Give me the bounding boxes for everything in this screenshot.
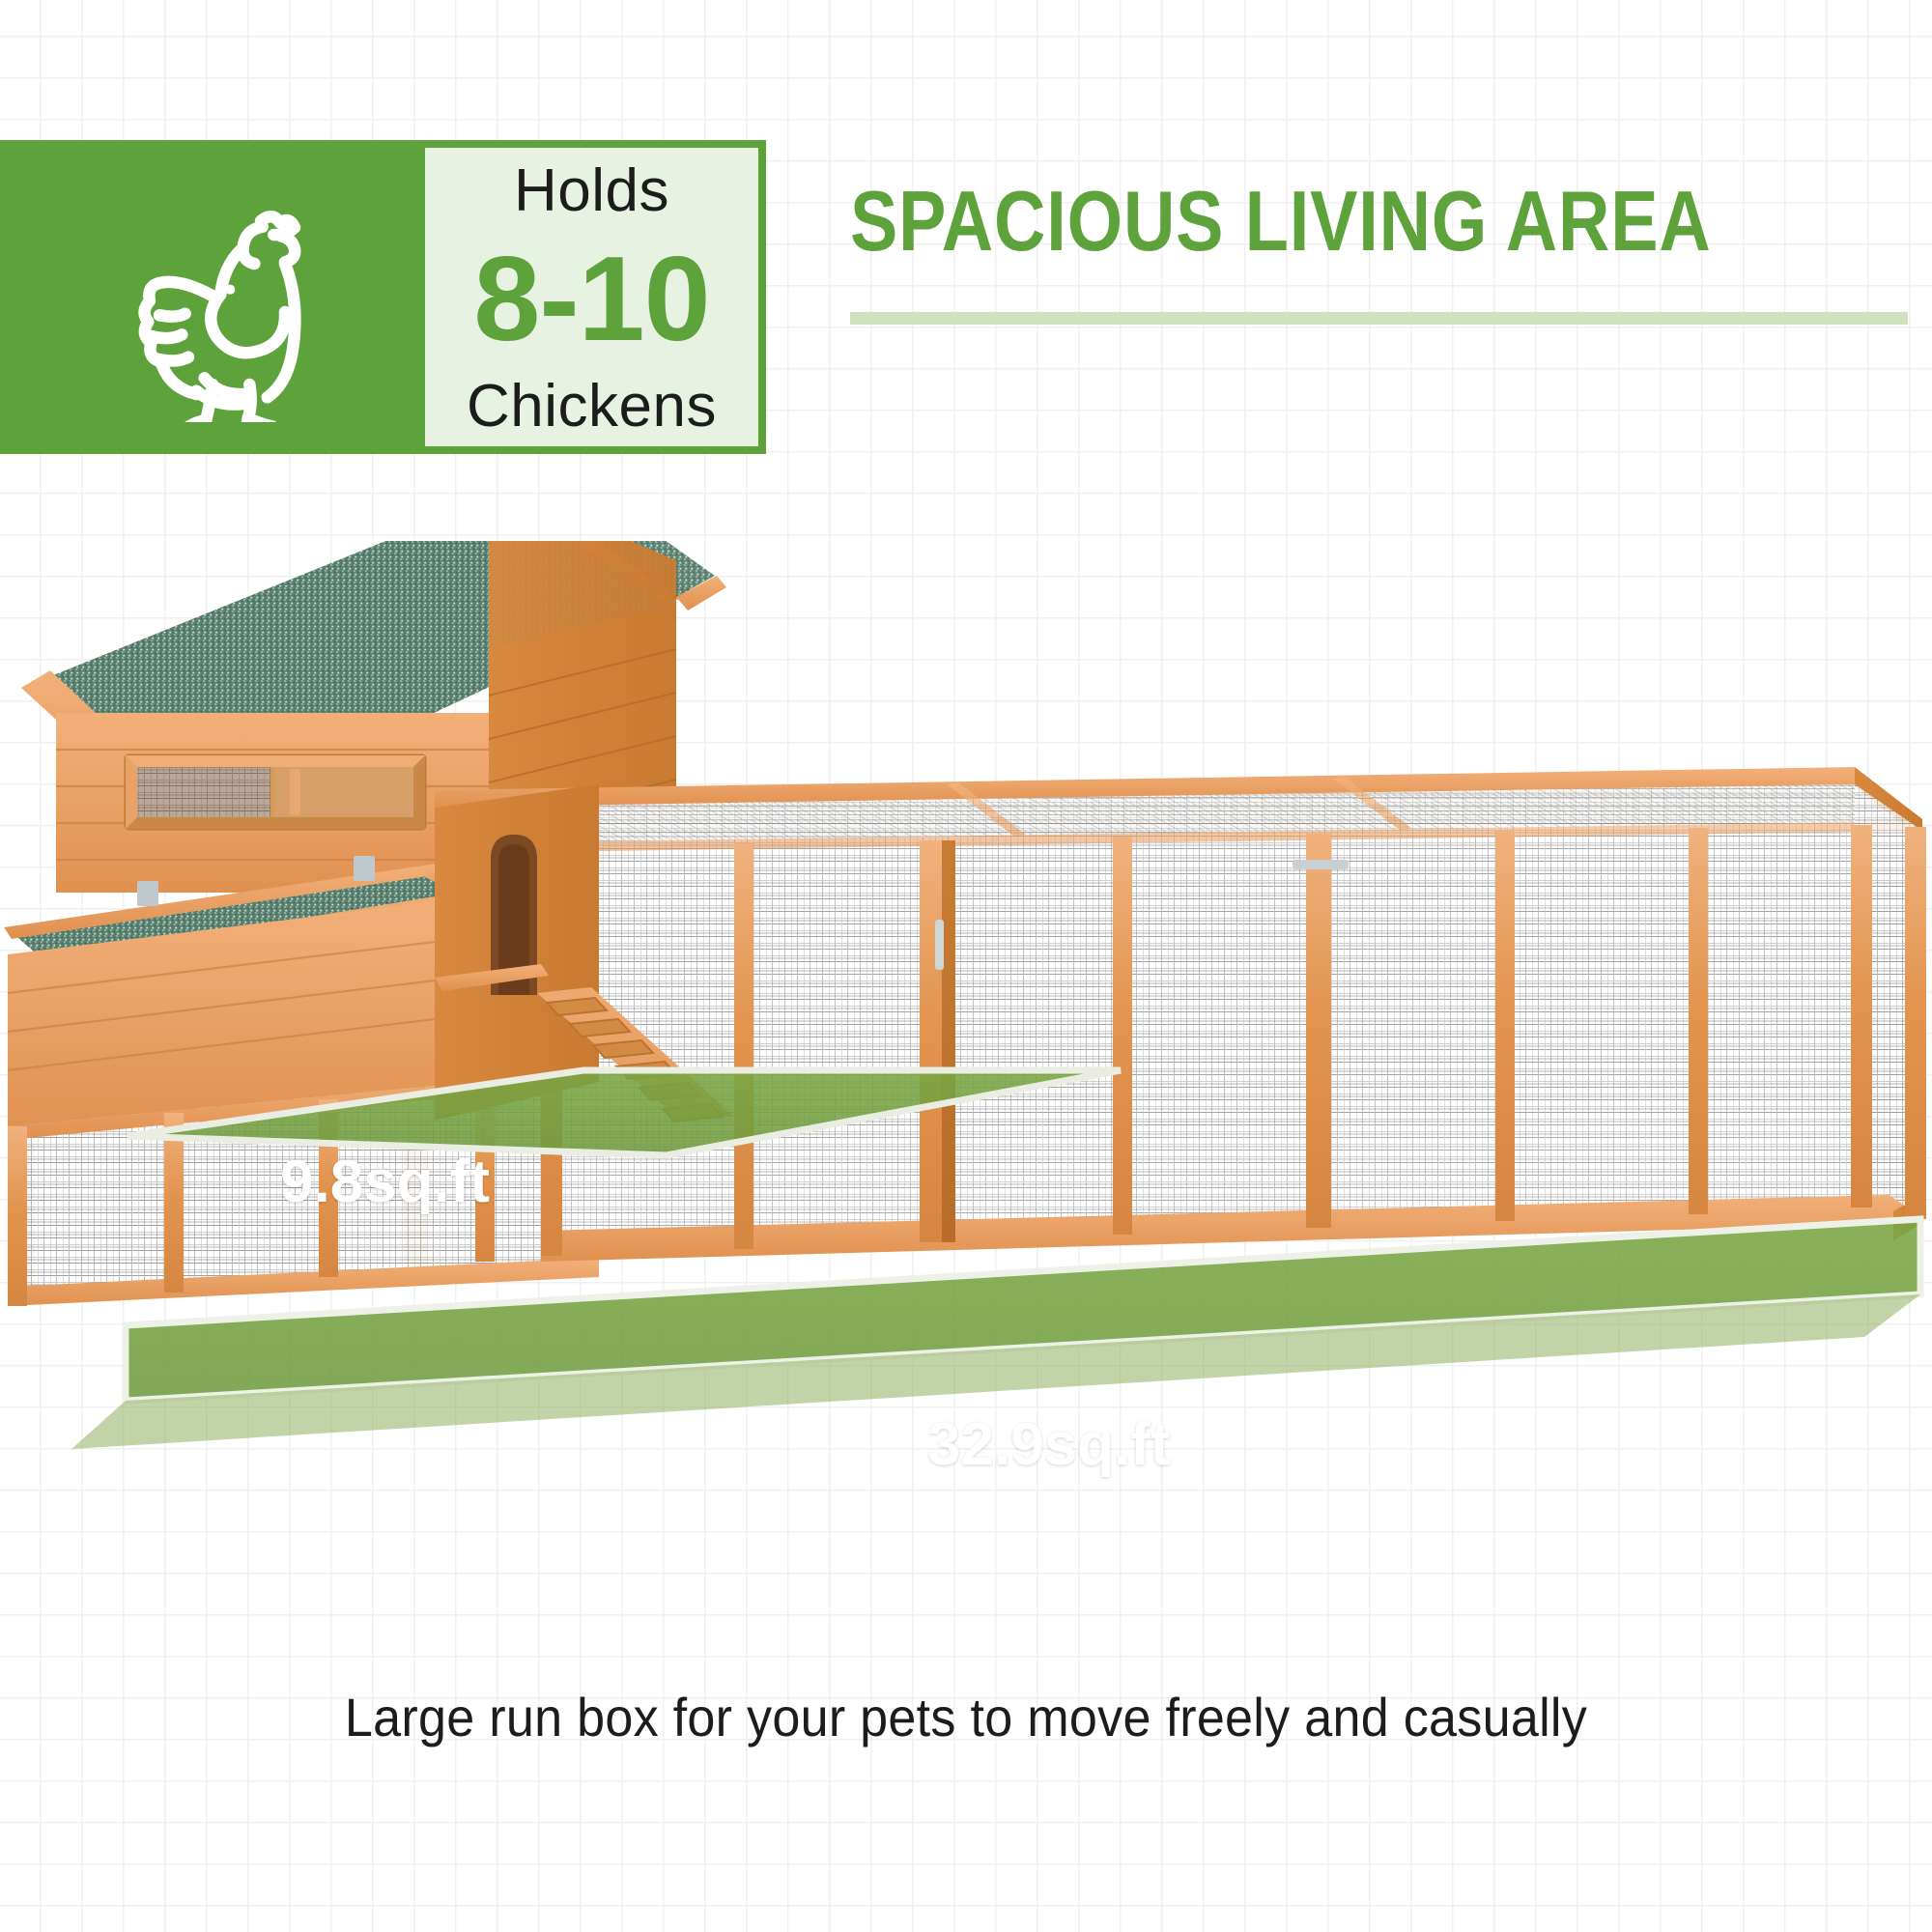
product-image xyxy=(0,541,1932,1623)
capacity-count: 8-10 xyxy=(473,240,709,359)
headline-block: SPACIOUS LIVING AREA xyxy=(850,179,1922,325)
page-title: SPACIOUS LIVING AREA xyxy=(850,179,1750,264)
badge-text-cell: Holds 8-10 Chickens xyxy=(425,148,758,446)
hen-icon xyxy=(92,173,333,422)
badge-icon-cell xyxy=(0,140,425,454)
holds-label: Holds xyxy=(514,161,669,221)
capacity-badge: Holds 8-10 Chickens xyxy=(0,140,766,454)
chickens-label: Chickens xyxy=(467,377,717,437)
caption-text: Large run box for your pets to move free… xyxy=(68,1686,1864,1748)
headline-underline xyxy=(850,312,1908,325)
